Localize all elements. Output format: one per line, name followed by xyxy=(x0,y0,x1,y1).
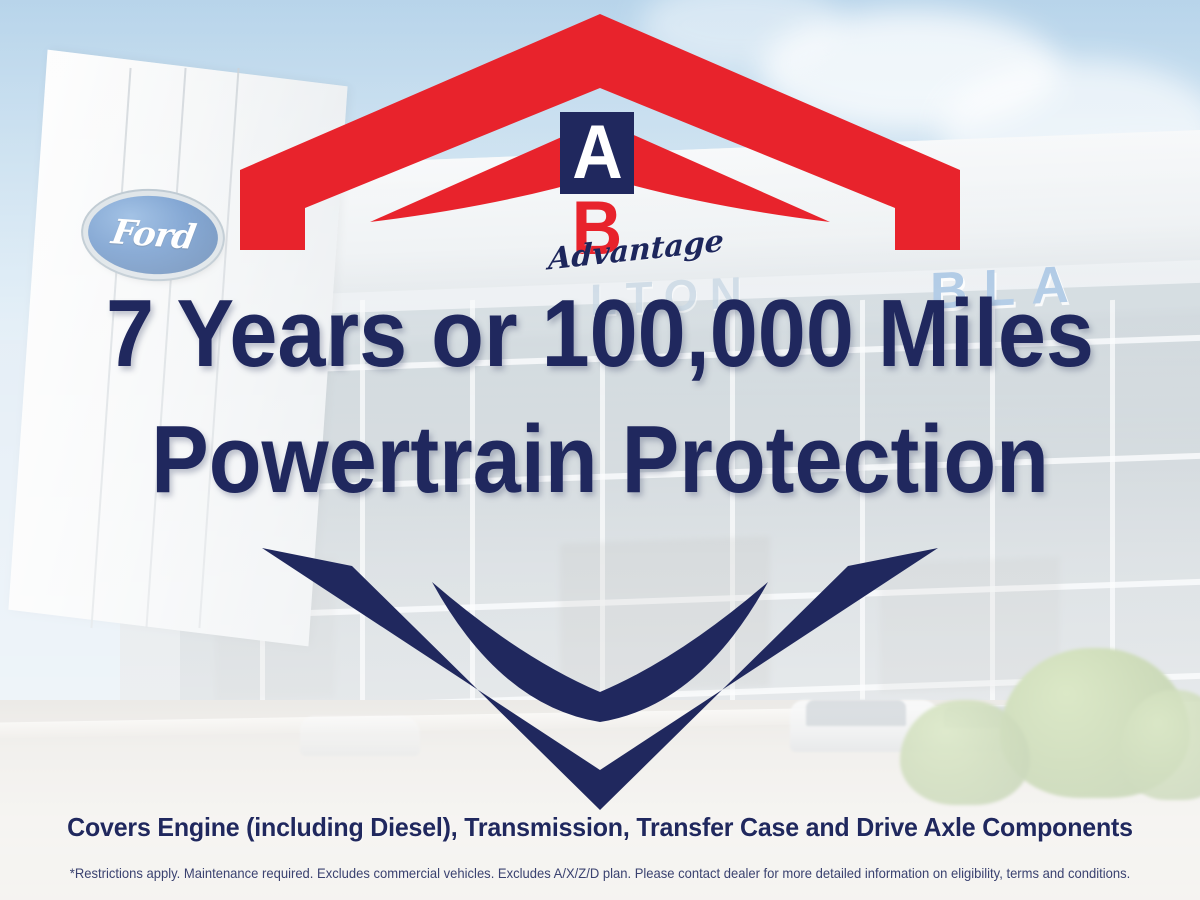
headline-line-2: Powertrain Protection xyxy=(60,412,1140,508)
coverage-tagline: Covers Engine (including Diesel), Transm… xyxy=(24,812,1176,842)
headline-line-1: 7 Years or 100,000 Miles xyxy=(60,286,1140,382)
navy-chevron-icon xyxy=(0,520,1200,820)
letter-a-box: A xyxy=(560,112,634,194)
promo-banner: Ford LTON BLA A B Advantage 7 Years or 1… xyxy=(0,0,1200,900)
letter-a: A xyxy=(572,117,622,189)
legal-disclaimer: *Restrictions apply. Maintenance require… xyxy=(42,864,1158,882)
ab-advantage-logo: A B Advantage xyxy=(0,0,1200,300)
